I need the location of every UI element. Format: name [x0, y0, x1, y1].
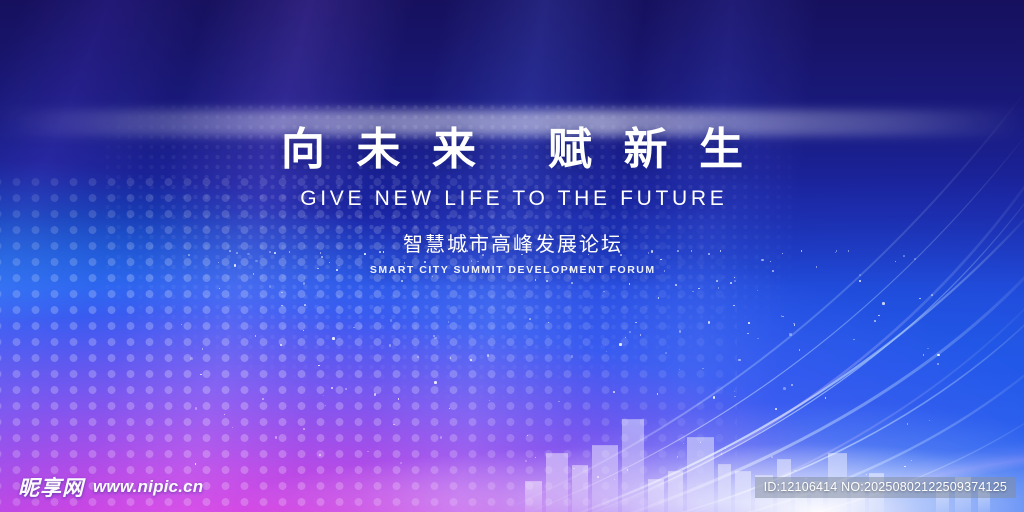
particle: [281, 292, 283, 294]
particle: [323, 395, 325, 397]
skyline-building: [592, 445, 618, 512]
particle: [202, 348, 204, 350]
particle: [262, 398, 265, 401]
particle: [718, 287, 720, 289]
image-id-tag: ID:12106414 NO:20250802122509374125: [755, 477, 1016, 498]
particle: [716, 280, 718, 282]
particle: [927, 348, 929, 350]
particle: [303, 330, 305, 332]
particle: [734, 396, 736, 398]
particle: [725, 448, 727, 450]
particle: [923, 354, 925, 356]
particle: [775, 408, 777, 410]
particle: [280, 344, 282, 346]
particle: [190, 357, 193, 360]
skyline-building: [687, 437, 714, 512]
particle: [275, 436, 278, 439]
particle: [400, 462, 403, 465]
particle: [281, 305, 283, 307]
particle: [255, 335, 257, 337]
headline-chinese-right: 赋 新 生: [548, 125, 753, 174]
skyline-building: [718, 464, 731, 512]
particle: [367, 451, 369, 453]
nipic-logo: 昵享网: [18, 472, 84, 502]
particle: [799, 349, 801, 351]
particle: [882, 302, 885, 305]
particle: [440, 436, 443, 439]
particle: [571, 282, 573, 284]
particle: [783, 387, 786, 390]
particle: [794, 470, 796, 472]
particle: [748, 322, 750, 324]
particle: [434, 337, 437, 340]
particle: [734, 280, 737, 283]
particle: [853, 339, 855, 341]
particle: [558, 401, 560, 403]
particle: [331, 387, 333, 389]
particle: [200, 374, 202, 376]
particle: [757, 338, 759, 340]
particle: [937, 354, 940, 357]
skyline-building: [572, 465, 588, 512]
particle: [730, 282, 732, 284]
particle: [345, 388, 347, 390]
particle: [679, 369, 681, 371]
particle: [625, 337, 627, 339]
particle: [683, 443, 685, 445]
particle: [181, 324, 183, 326]
particle: [929, 420, 931, 422]
particle: [859, 280, 861, 282]
particle: [489, 400, 491, 402]
particle: [417, 356, 420, 359]
particle: [529, 318, 531, 320]
subtitle-chinese: 智慧城市高峰发展论坛: [0, 228, 1024, 257]
particle: [374, 393, 377, 396]
particle: [613, 391, 615, 393]
particle: [224, 414, 226, 416]
particle: [535, 457, 537, 459]
particle: [303, 428, 305, 430]
particle: [733, 305, 735, 307]
particle: [698, 288, 700, 290]
skyline-building: [668, 471, 683, 512]
particle: [734, 391, 736, 393]
particle: [449, 408, 451, 410]
particle: [931, 294, 933, 296]
particle: [907, 423, 909, 425]
particle: [878, 315, 880, 317]
particle: [919, 298, 921, 300]
particle: [721, 453, 723, 455]
particle: [713, 396, 716, 399]
particle: [866, 474, 868, 476]
particle: [318, 365, 320, 367]
watermark-url: www.nipic.cn: [93, 477, 203, 497]
particle: [433, 335, 435, 337]
particle: [398, 398, 400, 400]
particle: [757, 290, 759, 292]
particle: [332, 337, 335, 340]
particle: [635, 322, 637, 324]
particle: [535, 279, 537, 281]
particle: [393, 424, 395, 426]
city-skyline: [0, 0, 1024, 110]
particle: [434, 381, 437, 384]
particle: [389, 344, 392, 347]
particle: [401, 280, 404, 283]
skyline-building: [622, 419, 644, 512]
particle: [450, 357, 452, 359]
headline-block: 向 未 来 赋 新 生 GIVE NEW LIFE TO THE FUTURE …: [0, 128, 1024, 276]
particle: [679, 330, 682, 333]
particle: [603, 291, 605, 293]
particle: [675, 284, 677, 286]
particle: [665, 352, 667, 354]
particle: [677, 456, 679, 458]
particle: [219, 288, 221, 290]
particle: [708, 321, 711, 324]
subtitle-english: SMART CITY SUMMIT DEVELOPMENT FORUM: [0, 264, 1024, 276]
particle: [738, 359, 741, 362]
particle: [571, 355, 574, 358]
particle: [937, 363, 939, 365]
particle: [692, 291, 694, 293]
particle: [658, 297, 660, 299]
particle: [319, 454, 321, 456]
skyline-building: [525, 481, 542, 512]
particle: [195, 463, 197, 465]
particle: [904, 466, 906, 468]
particle: [791, 384, 793, 386]
particle: [619, 343, 622, 346]
particle: [874, 320, 876, 322]
particle: [487, 354, 490, 357]
particle: [470, 359, 472, 361]
particle: [304, 304, 306, 306]
skyline-building: [648, 479, 664, 512]
particle: [782, 316, 784, 318]
particle: [789, 333, 792, 336]
particle: [390, 319, 393, 322]
particle: [640, 334, 642, 336]
particle: [546, 280, 548, 282]
particle: [548, 322, 550, 324]
particle: [325, 405, 327, 407]
particle: [303, 282, 306, 285]
particle: [657, 393, 659, 395]
particle: [771, 456, 773, 458]
watermark: 昵享网 www.nipic.cn: [18, 472, 203, 502]
particle: [606, 351, 608, 353]
particle: [781, 315, 783, 317]
particle: [793, 323, 795, 325]
particle: [911, 460, 913, 462]
particle: [448, 321, 450, 323]
particle: [527, 435, 529, 437]
particle: [794, 324, 796, 326]
headline-chinese: 向 未 来 赋 新 生: [0, 128, 1024, 173]
particle: [825, 397, 827, 399]
particle: [702, 368, 704, 370]
particle: [195, 407, 198, 410]
particle: [525, 460, 527, 462]
particle: [747, 333, 749, 335]
headline-english: GIVE NEW LIFE TO THE FUTURE: [0, 187, 1024, 211]
particle: [629, 283, 631, 285]
poster-canvas: 向 未 来 赋 新 生 GIVE NEW LIFE TO THE FUTURE …: [0, 0, 1024, 512]
skyline-building: [735, 471, 751, 512]
particle: [353, 327, 355, 329]
skyline-building: [546, 453, 568, 512]
particle: [232, 427, 234, 429]
particle: [269, 285, 272, 288]
particle: [629, 331, 631, 333]
headline-chinese-left: 向 未 来: [281, 125, 486, 174]
particle: [734, 277, 736, 279]
